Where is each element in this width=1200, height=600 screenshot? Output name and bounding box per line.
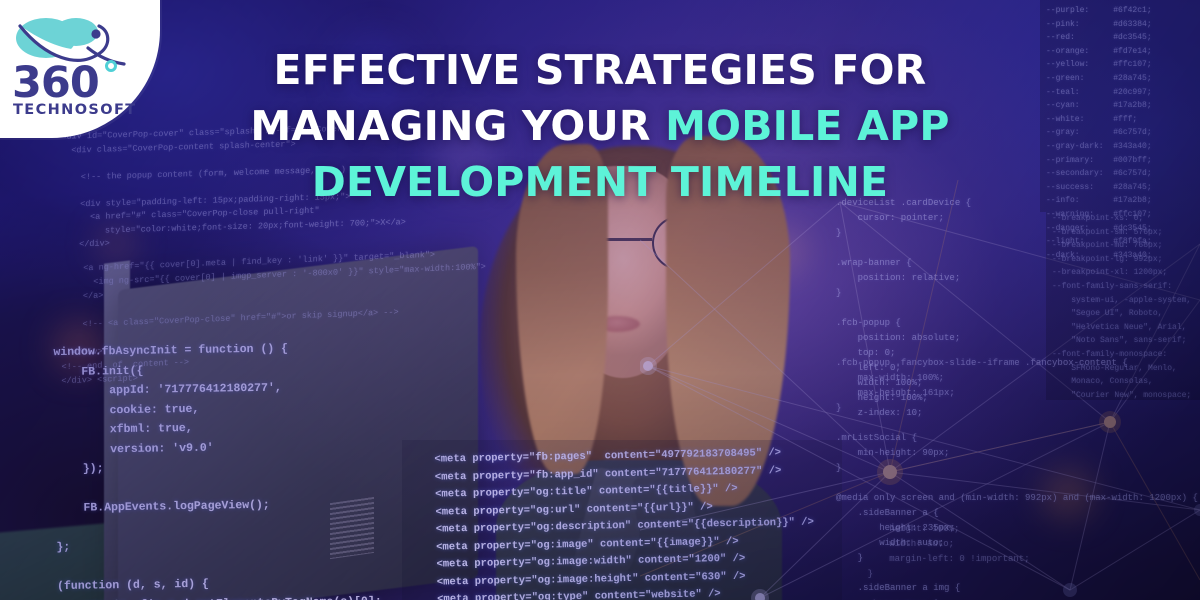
logo-wordmark: TECHNOSOFT (13, 102, 137, 118)
headline-line-1: EFFECTIVE STRATEGIES FOR (200, 42, 1000, 98)
logo-number: 360 (12, 62, 99, 105)
headline-line-2-plain: MANAGING YOUR (250, 102, 665, 150)
degree-icon (105, 60, 117, 72)
page-title: EFFECTIVE STRATEGIES FOR MANAGING YOUR M… (200, 42, 1000, 210)
logo-badge[interactable]: 360 TECHNOSOFT (0, 0, 160, 138)
headline-line-2: MANAGING YOUR MOBILE APP (200, 98, 1000, 154)
headline-line-2-highlight: MOBILE APP (665, 102, 949, 150)
blog-banner: <div id="CoverPop-cover" class="splash" … (0, 0, 1200, 600)
headline-line-3-highlight: DEVELOPMENT TIMELINE (200, 154, 1000, 210)
logo[interactable]: 360 TECHNOSOFT (12, 12, 138, 124)
